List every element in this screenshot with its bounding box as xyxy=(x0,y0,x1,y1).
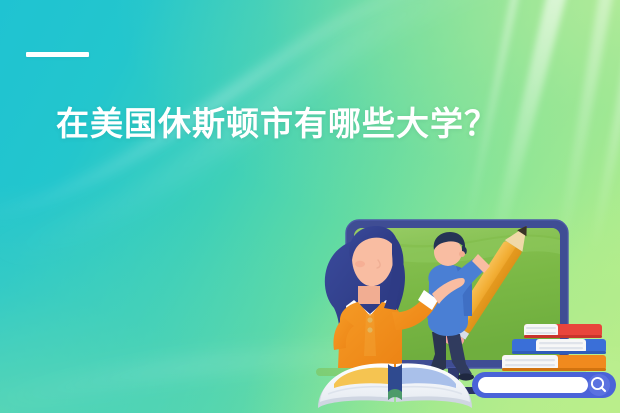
article-cover-banner: 在美国休斯顿市有哪些大学？ xyxy=(0,0,620,413)
book-blue xyxy=(512,339,606,354)
education-illustration xyxy=(296,196,620,413)
book-orange xyxy=(502,355,606,371)
accent-dash xyxy=(26,52,89,57)
search-bar[interactable] xyxy=(472,372,616,398)
search-icon[interactable] xyxy=(588,374,610,396)
page-title: 在美国休斯顿市有哪些大学？ xyxy=(56,102,576,146)
book-red xyxy=(524,324,602,338)
search-input[interactable] xyxy=(478,377,588,393)
